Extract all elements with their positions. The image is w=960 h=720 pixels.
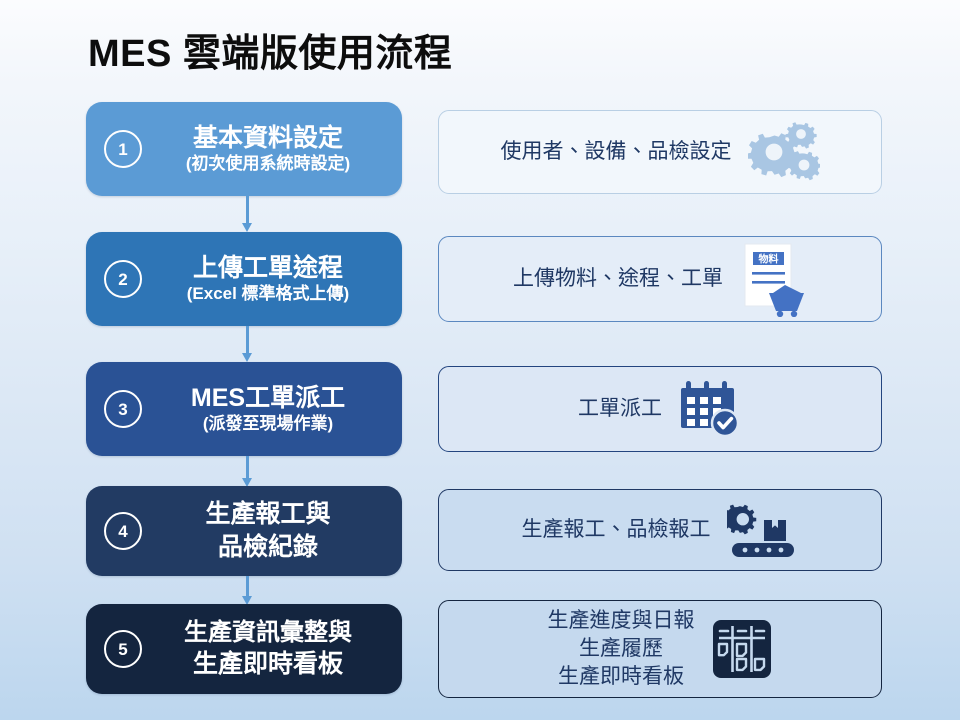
step-box-2[interactable]: 2 上傳工單途程 (Excel 標準格式上傳) <box>86 232 402 326</box>
step-number-badge-3: 3 <box>104 390 142 428</box>
step-subtitle-3: (派發至現場作業) <box>144 414 392 434</box>
step-box-3[interactable]: 3 MES工單派工 (派發至現場作業) <box>86 362 402 456</box>
detail-panel-2[interactable]: 上傳物料、途程、工單 物料 <box>438 236 882 322</box>
detail-panel-4[interactable]: 生產報工、品檢報工 <box>438 489 882 571</box>
detail-line: 生產報工、品檢報工 <box>522 516 711 544</box>
step-label-group-3: MES工單派工 (派發至現場作業) <box>142 384 402 434</box>
step-title-2: 上傳工單途程 <box>144 254 392 283</box>
detail-panel-1[interactable]: 使用者、設備、品檢設定 <box>438 110 882 194</box>
step-number-badge-5: 5 <box>104 630 142 668</box>
step-box-1[interactable]: 1 基本資料設定 (初次使用系統時設定) <box>86 102 402 196</box>
detail-line: 工單派工 <box>578 395 662 423</box>
step-title-3: MES工單派工 <box>144 384 392 413</box>
detail-line: 生產進度與日報 <box>548 607 695 635</box>
material-doc-badge-text: 物料 <box>759 253 779 266</box>
step-number-badge-2: 2 <box>104 260 142 298</box>
material-document-cart-icon: 物料 <box>739 241 807 317</box>
calendar-check-icon <box>678 378 742 440</box>
step-title-4-line2: 品檢紀錄 <box>144 532 392 562</box>
flow-arrow-1-to-2 <box>242 196 252 232</box>
detail-panel-text-1: 使用者、設備、品檢設定 <box>501 138 732 166</box>
detail-line: 使用者、設備、品檢設定 <box>501 138 732 166</box>
detail-line: 上傳物料、途程、工單 <box>513 265 723 293</box>
step-subtitle-1: (初次使用系統時設定) <box>144 154 392 174</box>
step-title-1: 基本資料設定 <box>144 124 392 153</box>
step-box-5[interactable]: 5 生產資訊彙整與 生產即時看板 <box>86 604 402 694</box>
step-title-5-line2: 生產即時看板 <box>144 649 392 679</box>
detail-line: 生產履歷 <box>548 635 695 663</box>
step-label-group-5: 生產資訊彙整與 生產即時看板 <box>142 619 402 679</box>
step-label-group-2: 上傳工單途程 (Excel 標準格式上傳) <box>142 254 402 304</box>
step-number-badge-1: 1 <box>104 130 142 168</box>
step-label-group-4: 生產報工與 品檢紀錄 <box>142 500 402 562</box>
detail-line: 生產即時看板 <box>548 663 695 691</box>
gears-icon <box>748 121 820 183</box>
detail-panel-3[interactable]: 工單派工 <box>438 366 882 452</box>
process-flow-diagram: 1 基本資料設定 (初次使用系統時設定) 使用者、設備、品檢設定 <box>0 0 960 720</box>
flow-arrow-4-to-5 <box>242 576 252 604</box>
step-label-group-1: 基本資料設定 (初次使用系統時設定) <box>142 124 402 174</box>
kanban-board-icon <box>711 618 773 680</box>
step-title-5: 生產資訊彙整與 <box>144 619 392 646</box>
detail-panel-text-5: 生產進度與日報 生產履歷 生產即時看板 <box>548 607 695 691</box>
flow-arrow-3-to-4 <box>242 456 252 486</box>
detail-panel-text-2: 上傳物料、途程、工單 <box>513 265 723 293</box>
step-title-4: 生產報工與 <box>144 500 392 529</box>
detail-panel-text-3: 工單派工 <box>578 395 662 423</box>
detail-panel-text-4: 生產報工、品檢報工 <box>522 516 711 544</box>
step-number-badge-4: 4 <box>104 512 142 550</box>
conveyor-gear-icon <box>727 501 799 559</box>
detail-panel-5[interactable]: 生產進度與日報 生產履歷 生產即時看板 <box>438 600 882 698</box>
flow-arrow-2-to-3 <box>242 326 252 362</box>
step-box-4[interactable]: 4 生產報工與 品檢紀錄 <box>86 486 402 576</box>
step-subtitle-2: (Excel 標準格式上傳) <box>144 284 392 304</box>
